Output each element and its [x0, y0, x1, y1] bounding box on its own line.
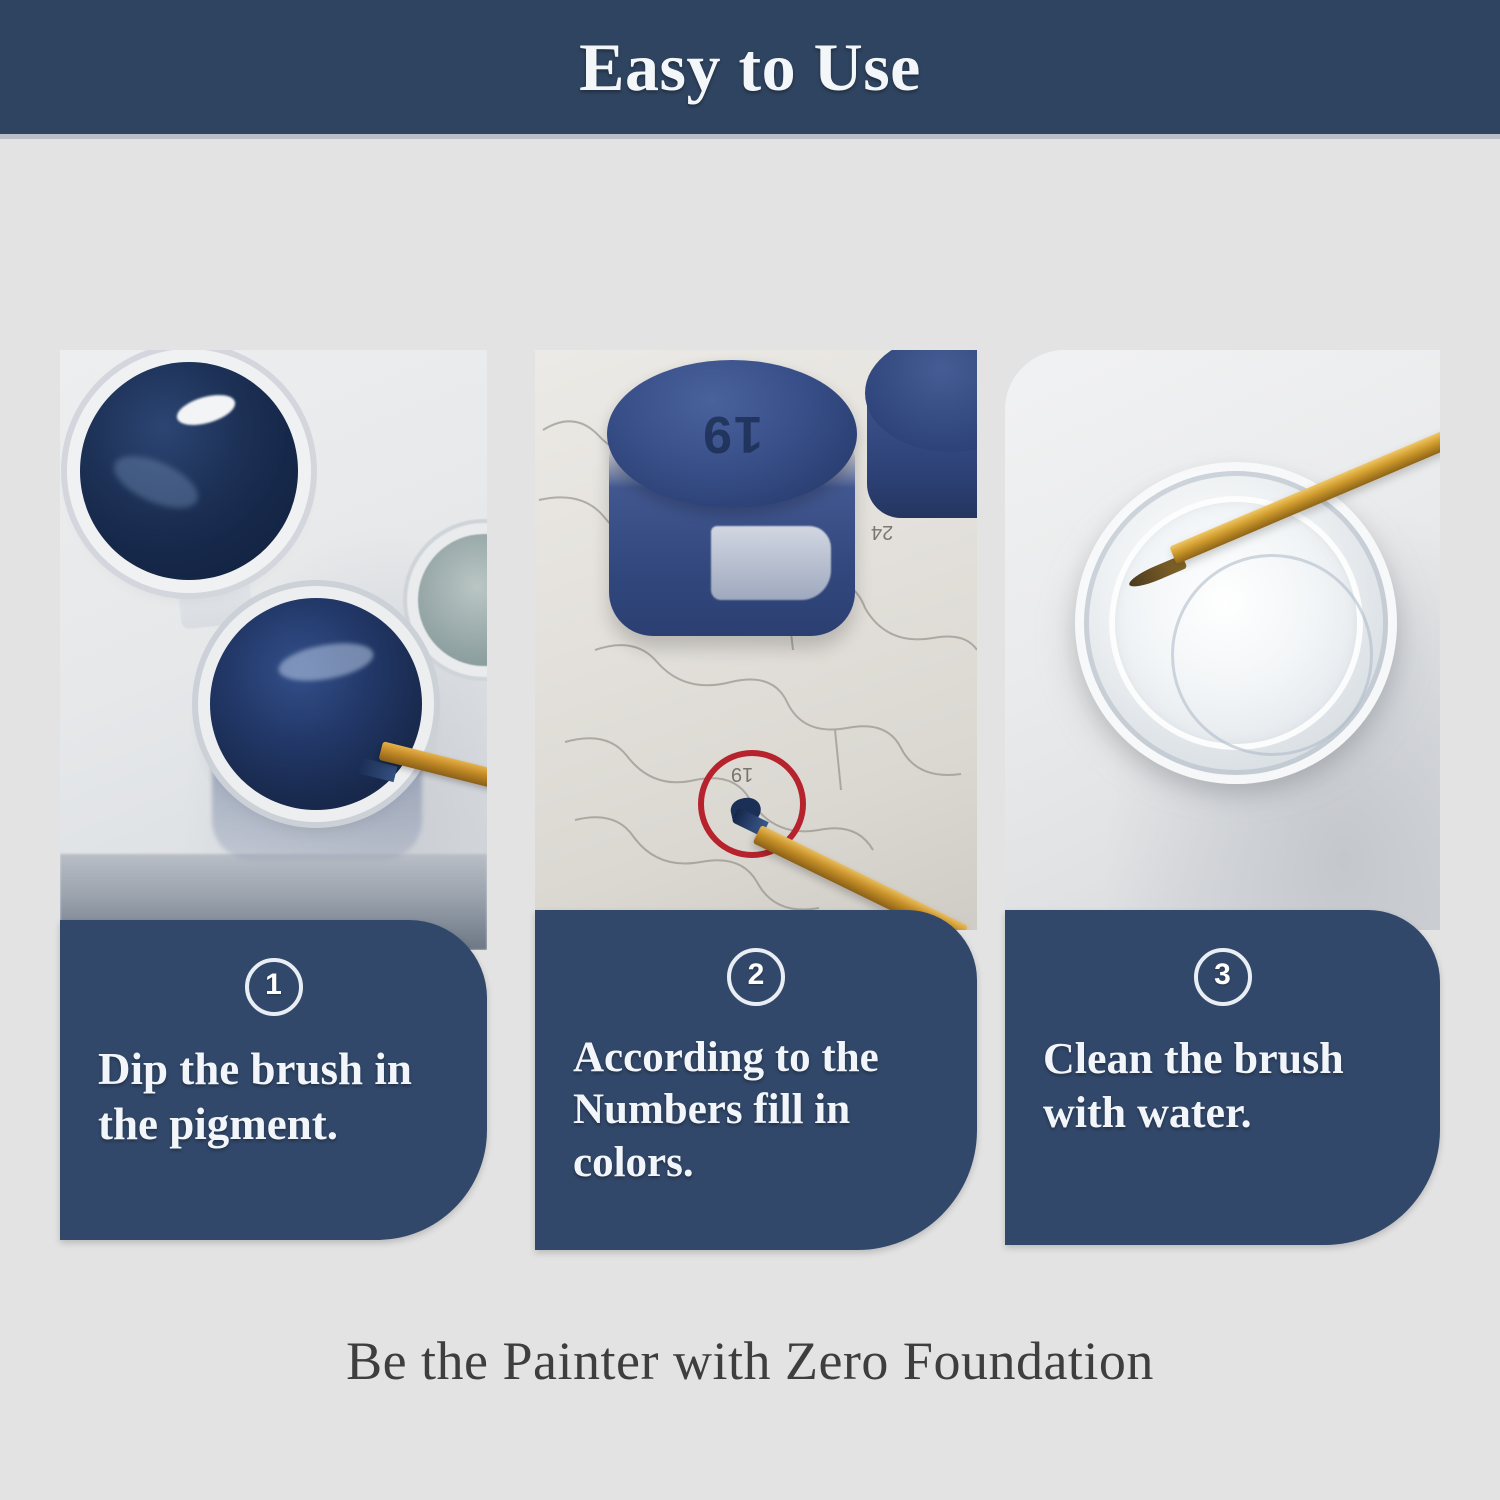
- paint-pot-upper: [80, 362, 298, 580]
- step-photo-2: 24 19 19 19: [535, 350, 977, 930]
- step-card-2: 24 19 19 19 2 According to the Numbers f…: [535, 350, 977, 1260]
- step-card-1: 1 Dip the brush in the pigment.: [60, 350, 487, 1260]
- step-caption-3: 3 Clean the brush with water.: [1005, 910, 1440, 1245]
- water-glass-icon: [1075, 462, 1397, 784]
- step-number-3: 3: [1194, 948, 1252, 1006]
- water-surface-ring: [1171, 554, 1373, 756]
- step-caption-1: 1 Dip the brush in the pigment.: [60, 920, 487, 1240]
- step-text-3: Clean the brush with water.: [1043, 1032, 1440, 1139]
- paint-pot-lid: 19: [607, 360, 857, 508]
- step-card-3: 3 Clean the brush with water.: [1005, 350, 1440, 1260]
- page-title: Easy to Use: [579, 28, 921, 107]
- pot-clip: [711, 526, 831, 600]
- step-photo-3: [1005, 350, 1440, 930]
- step-number-badge-1: 1: [60, 958, 487, 1016]
- step-number-badge-3: 3: [1005, 948, 1440, 1006]
- canvas-number-24: 24: [871, 520, 893, 543]
- step-number-1: 1: [245, 958, 303, 1016]
- step-text-2: According to the Numbers fill in colors.: [573, 1032, 977, 1189]
- step-caption-2: 2 According to the Numbers fill in color…: [535, 910, 977, 1250]
- pot-label-number: 19: [701, 404, 763, 464]
- step-number-badge-2: 2: [535, 948, 977, 1006]
- step-text-1: Dip the brush in the pigment.: [98, 1042, 487, 1152]
- header-banner: Easy to Use: [0, 0, 1500, 134]
- steps-grid: 1 Dip the brush in the pigment.: [60, 350, 1440, 1260]
- header-divider: [0, 134, 1500, 139]
- step-number-2: 2: [727, 948, 785, 1006]
- step-photo-1: [60, 350, 487, 950]
- footer-tagline: Be the Painter with Zero Foundation: [0, 1330, 1500, 1392]
